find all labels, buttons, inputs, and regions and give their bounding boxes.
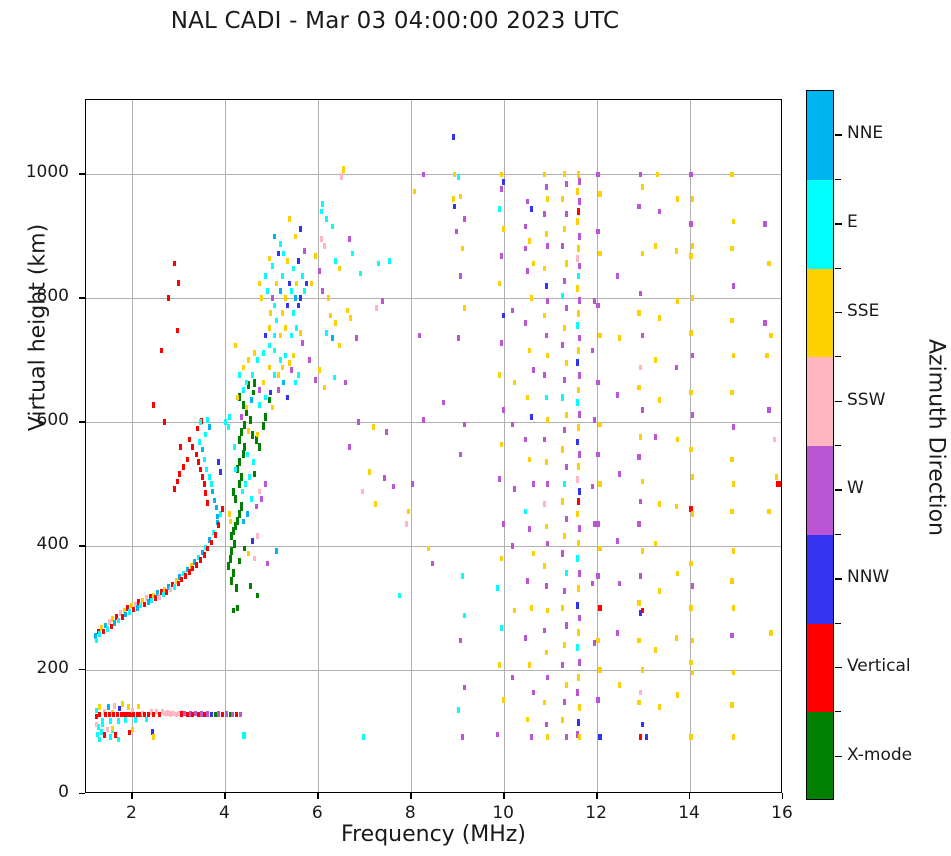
- data-point: [243, 443, 246, 451]
- data-point: [563, 278, 566, 284]
- y-tick-label: 0: [9, 782, 69, 802]
- data-point: [176, 328, 179, 334]
- data-point: [530, 414, 533, 420]
- data-point: [206, 500, 209, 506]
- data-point: [641, 548, 644, 554]
- data-point: [598, 546, 601, 552]
- data-point: [340, 173, 343, 180]
- data-point: [245, 405, 248, 411]
- data-point: [530, 605, 533, 611]
- data-point: [730, 578, 733, 584]
- colorbar-segment-ssw: [807, 357, 833, 446]
- ionogram-figure: NAL CADI - Mar 03 04:00:00 2023 UTC Freq…: [0, 0, 951, 856]
- data-point: [545, 395, 548, 401]
- data-point: [639, 499, 642, 505]
- data-point: [204, 490, 207, 496]
- data-point: [577, 585, 581, 592]
- data-point: [264, 273, 267, 279]
- data-point: [641, 667, 644, 673]
- data-point: [545, 722, 548, 728]
- data-point: [323, 243, 326, 249]
- data-point: [266, 561, 269, 567]
- data-point: [513, 608, 516, 614]
- y-tick: [79, 669, 85, 670]
- data-point: [565, 516, 568, 522]
- data-point: [691, 243, 694, 249]
- data-point: [217, 459, 220, 465]
- data-point: [591, 581, 594, 587]
- data-point: [498, 476, 501, 482]
- data-point: [502, 179, 505, 185]
- data-point: [546, 353, 549, 359]
- data-point: [269, 310, 272, 316]
- data-point: [457, 707, 460, 713]
- data-point: [225, 711, 228, 717]
- data-point: [256, 533, 259, 539]
- data-point: [273, 372, 276, 378]
- data-point: [545, 650, 548, 656]
- data-point: [195, 562, 198, 568]
- data-point: [290, 333, 293, 339]
- data-point: [546, 243, 549, 249]
- data-point: [264, 413, 267, 421]
- data-point: [576, 511, 580, 518]
- data-point: [675, 365, 678, 371]
- data-point: [219, 469, 222, 475]
- data-point: [418, 333, 421, 339]
- data-point: [689, 390, 692, 396]
- data-point: [318, 268, 321, 274]
- data-point: [730, 246, 733, 252]
- data-point: [239, 712, 242, 718]
- data-point: [578, 411, 582, 418]
- data-point: [500, 340, 503, 346]
- data-point: [496, 585, 499, 591]
- x-tick-label: 10: [473, 803, 533, 823]
- data-point: [206, 417, 209, 423]
- data-point: [543, 266, 546, 272]
- data-point: [177, 581, 180, 587]
- data-point: [596, 452, 599, 458]
- data-point: [532, 690, 535, 696]
- data-point: [305, 281, 308, 287]
- data-point: [732, 605, 735, 611]
- data-point: [530, 734, 533, 740]
- data-point: [641, 407, 644, 413]
- data-point: [691, 511, 694, 517]
- data-point: [241, 489, 244, 495]
- data-point: [453, 204, 456, 210]
- data-point: [576, 476, 580, 483]
- colorbar-label-sse: SSE: [847, 301, 879, 321]
- data-point: [524, 224, 527, 230]
- colorbar-segment-e: [807, 180, 833, 269]
- data-point: [372, 424, 375, 430]
- data-point: [563, 642, 566, 648]
- data-point: [461, 573, 464, 579]
- data-point: [132, 607, 135, 613]
- data-point: [545, 333, 548, 339]
- data-point: [641, 333, 644, 339]
- x-tick: [224, 793, 225, 799]
- data-point: [500, 186, 503, 192]
- data-point: [691, 583, 694, 589]
- data-point: [113, 620, 116, 626]
- data-point: [282, 251, 285, 257]
- y-tick-label: 800: [9, 286, 69, 306]
- data-point: [461, 246, 464, 252]
- data-point: [173, 261, 176, 267]
- data-point: [730, 457, 733, 463]
- data-point: [98, 704, 101, 710]
- data-point: [139, 603, 142, 609]
- data-point: [273, 333, 276, 339]
- data-point: [169, 587, 172, 593]
- data-point: [368, 469, 371, 475]
- data-point: [116, 712, 119, 718]
- y-tick: [79, 297, 85, 298]
- data-point: [524, 320, 527, 326]
- data-point: [258, 387, 261, 393]
- x-tick-label: 14: [659, 803, 719, 823]
- data-point: [578, 570, 582, 577]
- data-point: [188, 569, 191, 575]
- data-point: [577, 208, 581, 215]
- data-point: [214, 532, 217, 538]
- data-point: [639, 434, 642, 440]
- data-point: [545, 524, 548, 530]
- x-tick-label: 6: [287, 803, 347, 823]
- page-title: NAL CADI - Mar 03 04:00:00 2023 UTC: [0, 8, 790, 34]
- data-point: [654, 541, 657, 547]
- colorbar-segment-sse: [807, 269, 833, 358]
- data-point: [111, 726, 114, 732]
- data-point: [113, 703, 116, 709]
- data-point: [563, 699, 566, 705]
- colorbar-label-ssw: SSW: [847, 390, 885, 410]
- colorbar-segment-x-mode: [807, 712, 833, 800]
- data-point: [286, 258, 289, 264]
- data-point: [691, 638, 694, 644]
- data-point: [117, 718, 120, 724]
- data-point: [334, 258, 337, 264]
- data-point: [208, 474, 211, 480]
- data-point: [463, 216, 466, 222]
- data-point: [160, 348, 163, 354]
- data-point: [453, 172, 456, 178]
- data-point: [284, 295, 287, 301]
- data-point: [318, 367, 321, 373]
- data-point: [596, 380, 599, 386]
- data-point: [233, 444, 236, 450]
- data-point: [502, 697, 505, 703]
- data-point: [543, 700, 546, 706]
- data-point: [577, 424, 581, 431]
- data-point: [178, 471, 181, 477]
- data-point: [277, 387, 280, 393]
- data-point: [578, 615, 582, 622]
- x-tick: [782, 793, 783, 799]
- data-point: [577, 463, 581, 470]
- data-point: [543, 437, 546, 443]
- data-point: [145, 717, 148, 723]
- data-point: [277, 372, 280, 378]
- colorbar-segment-nne: [807, 91, 833, 180]
- data-point: [500, 556, 503, 562]
- data-point: [676, 571, 679, 577]
- data-point: [639, 690, 642, 696]
- colorbar-label-x-mode: X-mode: [847, 745, 912, 765]
- data-point: [234, 495, 237, 503]
- data-point: [524, 246, 527, 252]
- data-point: [730, 172, 733, 178]
- data-point: [577, 347, 581, 354]
- data-point: [463, 613, 466, 619]
- data-point: [563, 226, 566, 232]
- data-point: [262, 350, 265, 356]
- data-point: [732, 424, 735, 430]
- data-point: [215, 505, 218, 511]
- data-point: [576, 285, 580, 292]
- data-point: [196, 426, 199, 432]
- data-point: [591, 484, 594, 490]
- data-point: [176, 479, 179, 485]
- data-point: [281, 273, 284, 279]
- data-point: [242, 732, 245, 739]
- data-point: [258, 489, 261, 495]
- data-point: [654, 647, 657, 653]
- data-point: [546, 608, 549, 614]
- data-point: [242, 450, 245, 458]
- data-point: [563, 533, 566, 539]
- data-point: [405, 521, 408, 527]
- data-point: [689, 221, 692, 227]
- data-point: [243, 546, 246, 552]
- data-point: [269, 390, 272, 396]
- data-point: [442, 400, 445, 406]
- data-point: [530, 295, 533, 301]
- data-point: [546, 298, 549, 304]
- data-point: [256, 593, 259, 599]
- data-point: [676, 196, 679, 202]
- data-point: [598, 191, 601, 197]
- data-point: [264, 395, 267, 401]
- data-point: [240, 414, 243, 420]
- data-point: [299, 330, 302, 336]
- data-point: [167, 295, 170, 301]
- data-point: [676, 692, 679, 698]
- data-point: [691, 353, 694, 359]
- data-point: [691, 412, 694, 418]
- data-point: [234, 467, 237, 473]
- data-point: [106, 626, 109, 632]
- data-point: [578, 198, 582, 205]
- data-point: [422, 172, 425, 178]
- data-point: [246, 452, 249, 458]
- data-point: [577, 674, 581, 681]
- data-point: [763, 320, 767, 326]
- data-point: [596, 229, 599, 235]
- data-point: [344, 380, 347, 386]
- data-point: [268, 325, 271, 331]
- data-point: [498, 281, 501, 287]
- data-point: [773, 437, 777, 443]
- data-point: [654, 357, 657, 363]
- data-point: [545, 583, 548, 589]
- data-point: [765, 353, 769, 359]
- data-point: [732, 283, 735, 289]
- data-point: [561, 446, 564, 452]
- data-point: [730, 702, 733, 708]
- data-point: [321, 288, 324, 294]
- data-point: [258, 443, 261, 451]
- data-point: [576, 399, 580, 406]
- data-point: [407, 509, 410, 515]
- data-point: [227, 562, 230, 570]
- data-point: [310, 281, 313, 287]
- data-point: [616, 392, 619, 398]
- x-tick-label: 4: [194, 803, 254, 823]
- data-point: [182, 464, 185, 470]
- data-point: [457, 335, 460, 341]
- data-point: [385, 429, 388, 435]
- data-point: [98, 631, 101, 637]
- data-point: [532, 261, 535, 267]
- data-point: [203, 552, 206, 558]
- data-point: [262, 380, 265, 386]
- data-point: [349, 315, 352, 321]
- data-point: [565, 412, 568, 418]
- data-point: [240, 473, 243, 481]
- data-point: [565, 734, 568, 740]
- data-point: [578, 704, 582, 711]
- data-point: [158, 594, 161, 600]
- data-point: [110, 624, 113, 630]
- data-point: [238, 372, 241, 378]
- data-point: [242, 401, 245, 409]
- data-point: [102, 629, 105, 635]
- data-point: [545, 283, 548, 289]
- data-point: [325, 216, 328, 222]
- data-point: [767, 509, 771, 515]
- data-point: [374, 501, 377, 507]
- data-point: [561, 196, 564, 202]
- data-point: [388, 258, 391, 264]
- data-point: [98, 712, 101, 718]
- data-point: [730, 509, 733, 515]
- data-point: [234, 343, 237, 349]
- data-point: [251, 431, 254, 439]
- y-tick-label: 200: [9, 658, 69, 678]
- data-point: [107, 704, 110, 710]
- data-point: [165, 589, 168, 595]
- data-point: [578, 372, 582, 379]
- data-point: [199, 557, 202, 563]
- data-point: [452, 134, 455, 140]
- x-tick-label: 12: [566, 803, 626, 823]
- colorbar-label-vertical: Vertical: [847, 656, 911, 676]
- data-point: [767, 261, 771, 267]
- data-point: [217, 522, 220, 528]
- data-point: [232, 488, 235, 496]
- data-point: [524, 437, 527, 443]
- data-point: [314, 253, 317, 259]
- data-point: [136, 712, 139, 718]
- data-point: [563, 325, 566, 331]
- data-point: [292, 266, 295, 272]
- data-point: [252, 459, 255, 465]
- data-point: [732, 670, 735, 676]
- data-point: [545, 459, 548, 465]
- data-point: [124, 612, 127, 618]
- data-point: [524, 635, 527, 641]
- data-point: [362, 734, 365, 741]
- x-tick: [503, 793, 504, 799]
- data-point: [260, 496, 263, 502]
- data-point: [240, 428, 243, 436]
- colorbar-label-nnw: NNW: [847, 567, 889, 587]
- data-point: [593, 298, 596, 304]
- data-point: [596, 638, 599, 644]
- data-point: [281, 365, 284, 371]
- data-point: [279, 357, 282, 363]
- data-point: [654, 434, 657, 440]
- data-point: [95, 722, 98, 728]
- data-point: [511, 308, 514, 314]
- data-point: [598, 481, 601, 487]
- data-point: [329, 313, 332, 319]
- data-point: [351, 251, 354, 257]
- data-point: [565, 464, 568, 470]
- data-point: [95, 638, 98, 644]
- data-point: [253, 471, 256, 477]
- x-tick-label: 8: [380, 803, 440, 823]
- data-point: [292, 310, 295, 316]
- colorbar: [806, 90, 834, 800]
- data-point: [275, 548, 278, 554]
- data-point: [637, 600, 640, 606]
- data-point: [463, 422, 466, 428]
- data-point: [565, 682, 568, 688]
- data-point: [732, 481, 735, 487]
- data-point: [598, 333, 601, 339]
- data-point: [275, 281, 278, 287]
- data-point: [301, 340, 304, 346]
- data-point: [578, 297, 582, 304]
- data-point: [266, 288, 269, 294]
- data-point: [578, 233, 582, 240]
- data-point: [286, 303, 289, 309]
- data-point: [498, 662, 501, 668]
- data-point: [201, 474, 204, 480]
- data-point: [238, 436, 241, 444]
- data-point: [255, 504, 258, 510]
- data-point: [577, 719, 581, 726]
- data-point: [98, 737, 101, 743]
- data-point: [117, 737, 120, 743]
- data-point: [152, 402, 155, 408]
- data-point: [294, 380, 297, 386]
- data-point: [675, 635, 678, 641]
- data-point: [565, 211, 568, 217]
- data-point: [206, 711, 209, 717]
- data-point: [249, 416, 252, 424]
- data-point: [137, 704, 140, 710]
- data-point: [229, 519, 232, 525]
- data-point: [576, 439, 580, 446]
- colorbar-tick: [835, 489, 842, 490]
- colorbar-label-w: W: [847, 478, 864, 498]
